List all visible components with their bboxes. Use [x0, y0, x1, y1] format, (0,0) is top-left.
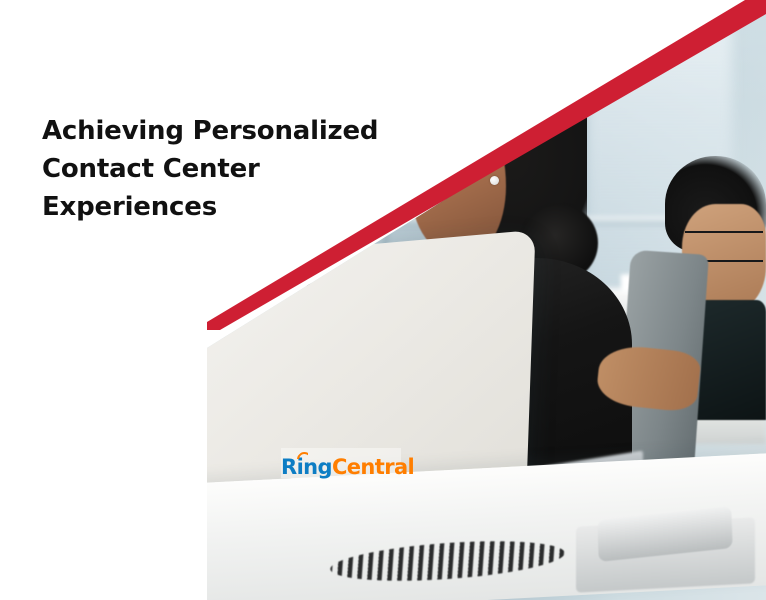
page-title: Achieving Personalized Contact Center Ex…	[42, 112, 402, 226]
office-contact-center-photo	[207, 0, 766, 600]
cover-slide: RingCentral Achieving Personalized Conta…	[0, 0, 766, 600]
page-title-line-1: Achieving Personalized	[42, 112, 402, 150]
ringcentral-wordmark: RingCentral	[281, 457, 414, 478]
page-title-line-3: Experiences	[42, 188, 402, 226]
logo-text-central: Central	[332, 455, 414, 479]
ringcentral-logo: RingCentral	[281, 448, 401, 478]
logo-signal-arc-icon	[297, 452, 308, 459]
page-title-line-2: Contact Center	[42, 150, 402, 188]
